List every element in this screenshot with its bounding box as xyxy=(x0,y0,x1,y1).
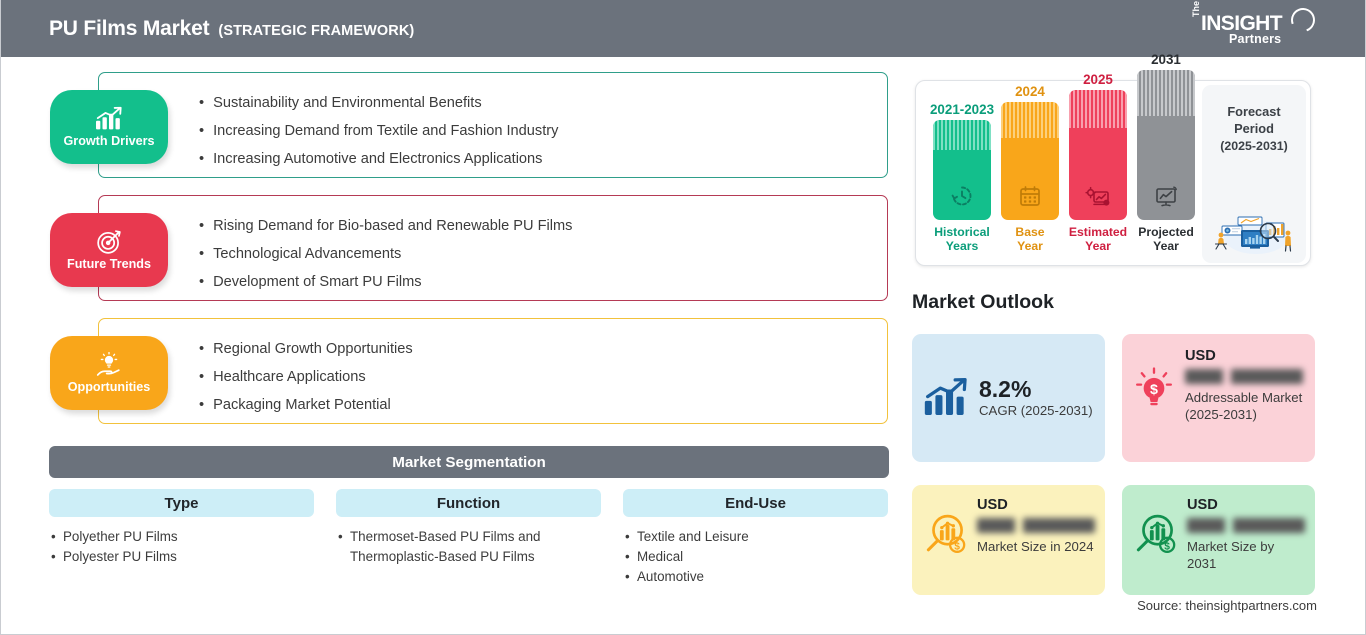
market-timeline-chart: 2021-2023 HistoricalYears 2024 xyxy=(915,80,1311,266)
usd-label: USD xyxy=(977,497,1095,513)
bar-chart-arrow-up-icon xyxy=(94,106,124,132)
outlook-card-inner: $ USD Market Size by 2031 xyxy=(1122,485,1315,595)
list-item: Automotive xyxy=(625,567,888,587)
timeline-year-label: 2021-2023 xyxy=(930,102,994,117)
svg-text:$: $ xyxy=(1164,541,1170,552)
infographic-page: PU Films Market (STRATEGIC FRAMEWORK) Th… xyxy=(0,0,1366,635)
usd-label: USD xyxy=(1187,497,1305,513)
segmentation-column-type: Type Polyether PU Films Polyester PU Fil… xyxy=(49,489,314,567)
segmentation-pill-function[interactable]: Function xyxy=(336,489,601,517)
segmentation-column-function: Function Thermoset-Based PU Films and Th… xyxy=(336,489,601,567)
calendar-icon xyxy=(1018,184,1042,208)
forecast-period-panel: ForecastPeriod (2025-2031) xyxy=(1202,85,1306,263)
segmentation-pill-type[interactable]: Type xyxy=(49,489,314,517)
future-trends-bullets: Rising Demand for Bio-based and Renewabl… xyxy=(199,212,873,296)
timeline-year-label: 2025 xyxy=(1083,72,1113,87)
timeline-bar-base: 2024 xyxy=(1000,84,1060,253)
bullet-item: Technological Advancements xyxy=(199,240,873,268)
business-analytics-illustration xyxy=(1208,203,1300,255)
timeline-category-label: BaseYear xyxy=(1015,225,1044,253)
cagr-value: 8.2% xyxy=(979,377,1093,402)
forecast-period-title: ForecastPeriod xyxy=(1227,103,1280,137)
bullet-item: Regional Growth Opportunities xyxy=(199,335,873,363)
growth-drivers-box: Sustainability and Environmental Benefit… xyxy=(98,72,888,178)
segmentation-items: Polyether PU Films Polyester PU Films xyxy=(49,527,314,567)
svg-text:$: $ xyxy=(1150,382,1158,398)
bullet-item: Development of Smart PU Films xyxy=(199,268,873,296)
outlook-card-inner: $ USD Market Size in 2024 xyxy=(912,485,1105,595)
outlook-card-text: 8.2% CAGR (2025-2031) xyxy=(979,377,1093,419)
segmentation-pill-label: Type xyxy=(165,495,199,512)
logo-partners-text: Partners xyxy=(1229,32,1281,46)
outlook-card-caption: Market Size by 2031 xyxy=(1187,538,1305,572)
timeline-bar-stripe xyxy=(1069,90,1127,128)
badge-label: Opportunities xyxy=(68,380,151,394)
outlook-card-inner: $ USD Addressable Market (2025-2031) xyxy=(1122,334,1315,462)
insight-partners-logo[interactable]: The INSIGHT Partners xyxy=(1191,8,1309,50)
timeline-icon-wrap xyxy=(1069,184,1127,208)
timeline-category-label: ProjectedYear xyxy=(1138,225,1194,253)
bar-chart-arrow-up-icon xyxy=(922,376,970,420)
segmentation-pill-end-use[interactable]: End-Use xyxy=(623,489,888,517)
timeline-bar-stripe xyxy=(1001,102,1059,138)
clock-history-icon xyxy=(950,184,974,208)
market-outlook-title: Market Outlook xyxy=(912,291,1054,314)
logo-the-text: The xyxy=(1191,1,1201,17)
opportunities-bullets: Regional Growth Opportunities Healthcare… xyxy=(199,335,873,419)
presentation-chart-icon xyxy=(1153,184,1179,208)
blurred-value xyxy=(977,518,1095,533)
hand-lightbulb-icon xyxy=(94,352,124,378)
page-header: PU Films Market (STRATEGIC FRAMEWORK) Th… xyxy=(1,0,1366,57)
timeline-bar xyxy=(933,120,991,220)
outlook-card-market-size-2031[interactable]: $ USD Market Size by 2031 xyxy=(1122,485,1315,595)
bullet-item: Increasing Automotive and Electronics Ap… xyxy=(199,145,873,173)
person-right xyxy=(1285,231,1291,251)
lightbulb-dollar-icon: $ xyxy=(1132,366,1176,410)
timeline-bar-projected: 2031 ProjectedYear xyxy=(1136,52,1196,253)
timeline-bar-estimated: 2025 Estim xyxy=(1068,72,1128,253)
segmentation-items: Textile and Leisure Medical Automotive xyxy=(623,527,888,587)
outlook-card-market-size-2024[interactable]: $ USD Market Size in 2024 xyxy=(912,485,1105,595)
outlook-card-cagr[interactable]: 8.2% CAGR (2025-2031) xyxy=(912,334,1105,462)
header-title-group: PU Films Market (STRATEGIC FRAMEWORK) xyxy=(49,17,414,41)
segmentation-pill-label: End-Use xyxy=(725,495,786,512)
timeline-bar-historical: 2021-2023 HistoricalYears xyxy=(932,102,992,253)
timeline-category-label: EstimatedYear xyxy=(1069,225,1127,253)
outlook-card-caption: Market Size in 2024 xyxy=(977,538,1095,555)
badge-growth-drivers[interactable]: Growth Drivers xyxy=(50,90,168,164)
market-segmentation-header: Market Segmentation xyxy=(49,446,889,478)
future-trends-box: Rising Demand for Bio-based and Renewabl… xyxy=(98,195,888,301)
usd-label: USD xyxy=(1185,348,1305,364)
badge-future-trends[interactable]: Future Trends xyxy=(50,213,168,287)
timeline-bar xyxy=(1137,70,1195,220)
badge-label: Growth Drivers xyxy=(64,134,155,148)
circle-swoosh-icon xyxy=(1287,4,1319,36)
timeline-icon-wrap xyxy=(1137,184,1195,208)
timeline-category-label: HistoricalYears xyxy=(934,225,990,253)
source-attribution: Source: theinsightpartners.com xyxy=(1137,598,1317,613)
outlook-card-text: USD Market Size in 2024 xyxy=(977,497,1095,555)
timeline-icon-wrap xyxy=(933,184,991,208)
list-item: Polyether PU Films xyxy=(51,527,314,547)
timeline-bar-stripe xyxy=(1137,70,1195,116)
bullet-item: Healthcare Applications xyxy=(199,363,873,391)
cagr-caption: CAGR (2025-2031) xyxy=(979,402,1093,419)
segmentation-pill-label: Function xyxy=(437,495,500,512)
growth-drivers-bullets: Sustainability and Environmental Benefit… xyxy=(199,89,873,173)
forecast-period-years: (2025-2031) xyxy=(1220,139,1288,153)
segmentation-column-end-use: End-Use Textile and Leisure Medical Auto… xyxy=(623,489,888,587)
timeline-year-label: 2024 xyxy=(1015,84,1045,99)
bullet-item: Increasing Demand from Textile and Fashi… xyxy=(199,117,873,145)
timeline-bar xyxy=(1069,90,1127,220)
svg-text:$: $ xyxy=(954,541,960,552)
timeline-icon-wrap xyxy=(1001,184,1059,208)
segmentation-items: Thermoset-Based PU Films and Thermoplast… xyxy=(336,527,601,567)
list-item: Thermoset-Based PU Films and Thermoplast… xyxy=(338,527,601,567)
outlook-card-caption: Addressable Market (2025-2031) xyxy=(1185,389,1305,423)
magnifier-bar-chart-dollar-icon: $ xyxy=(1132,511,1178,557)
bullet-item: Packaging Market Potential xyxy=(199,391,873,419)
outlook-card-text: USD Addressable Market (2025-2031) xyxy=(1185,348,1305,423)
timeline-bar xyxy=(1001,102,1059,220)
list-item: Medical xyxy=(625,547,888,567)
outlook-card-inner: 8.2% CAGR (2025-2031) xyxy=(912,334,1105,462)
outlook-card-text: USD Market Size by 2031 xyxy=(1187,497,1305,572)
timeline-bar-stripe xyxy=(933,120,991,150)
page-subtitle: (STRATEGIC FRAMEWORK) xyxy=(218,23,414,39)
outlook-card-addressable-market[interactable]: $ USD Addressable Market (2025-2031) xyxy=(1122,334,1315,462)
market-segmentation-label: Market Segmentation xyxy=(392,454,546,471)
opportunities-box: Regional Growth Opportunities Healthcare… xyxy=(98,318,888,424)
list-item: Polyester PU Films xyxy=(51,547,314,567)
target-dartboard-icon xyxy=(94,229,124,255)
bullet-item: Sustainability and Environmental Benefit… xyxy=(199,89,873,117)
bullet-item: Rising Demand for Bio-based and Renewabl… xyxy=(199,212,873,240)
blurred-value xyxy=(1185,369,1303,384)
timeline-year-label: 2031 xyxy=(1151,52,1181,67)
gear-chart-icon xyxy=(1085,184,1111,208)
page-title: PU Films Market xyxy=(49,17,209,41)
list-item: Textile and Leisure xyxy=(625,527,888,547)
badge-opportunities[interactable]: Opportunities xyxy=(50,336,168,410)
magnifier-bar-chart-dollar-icon: $ xyxy=(922,511,968,557)
blurred-value xyxy=(1187,518,1305,533)
badge-label: Future Trends xyxy=(67,257,151,271)
